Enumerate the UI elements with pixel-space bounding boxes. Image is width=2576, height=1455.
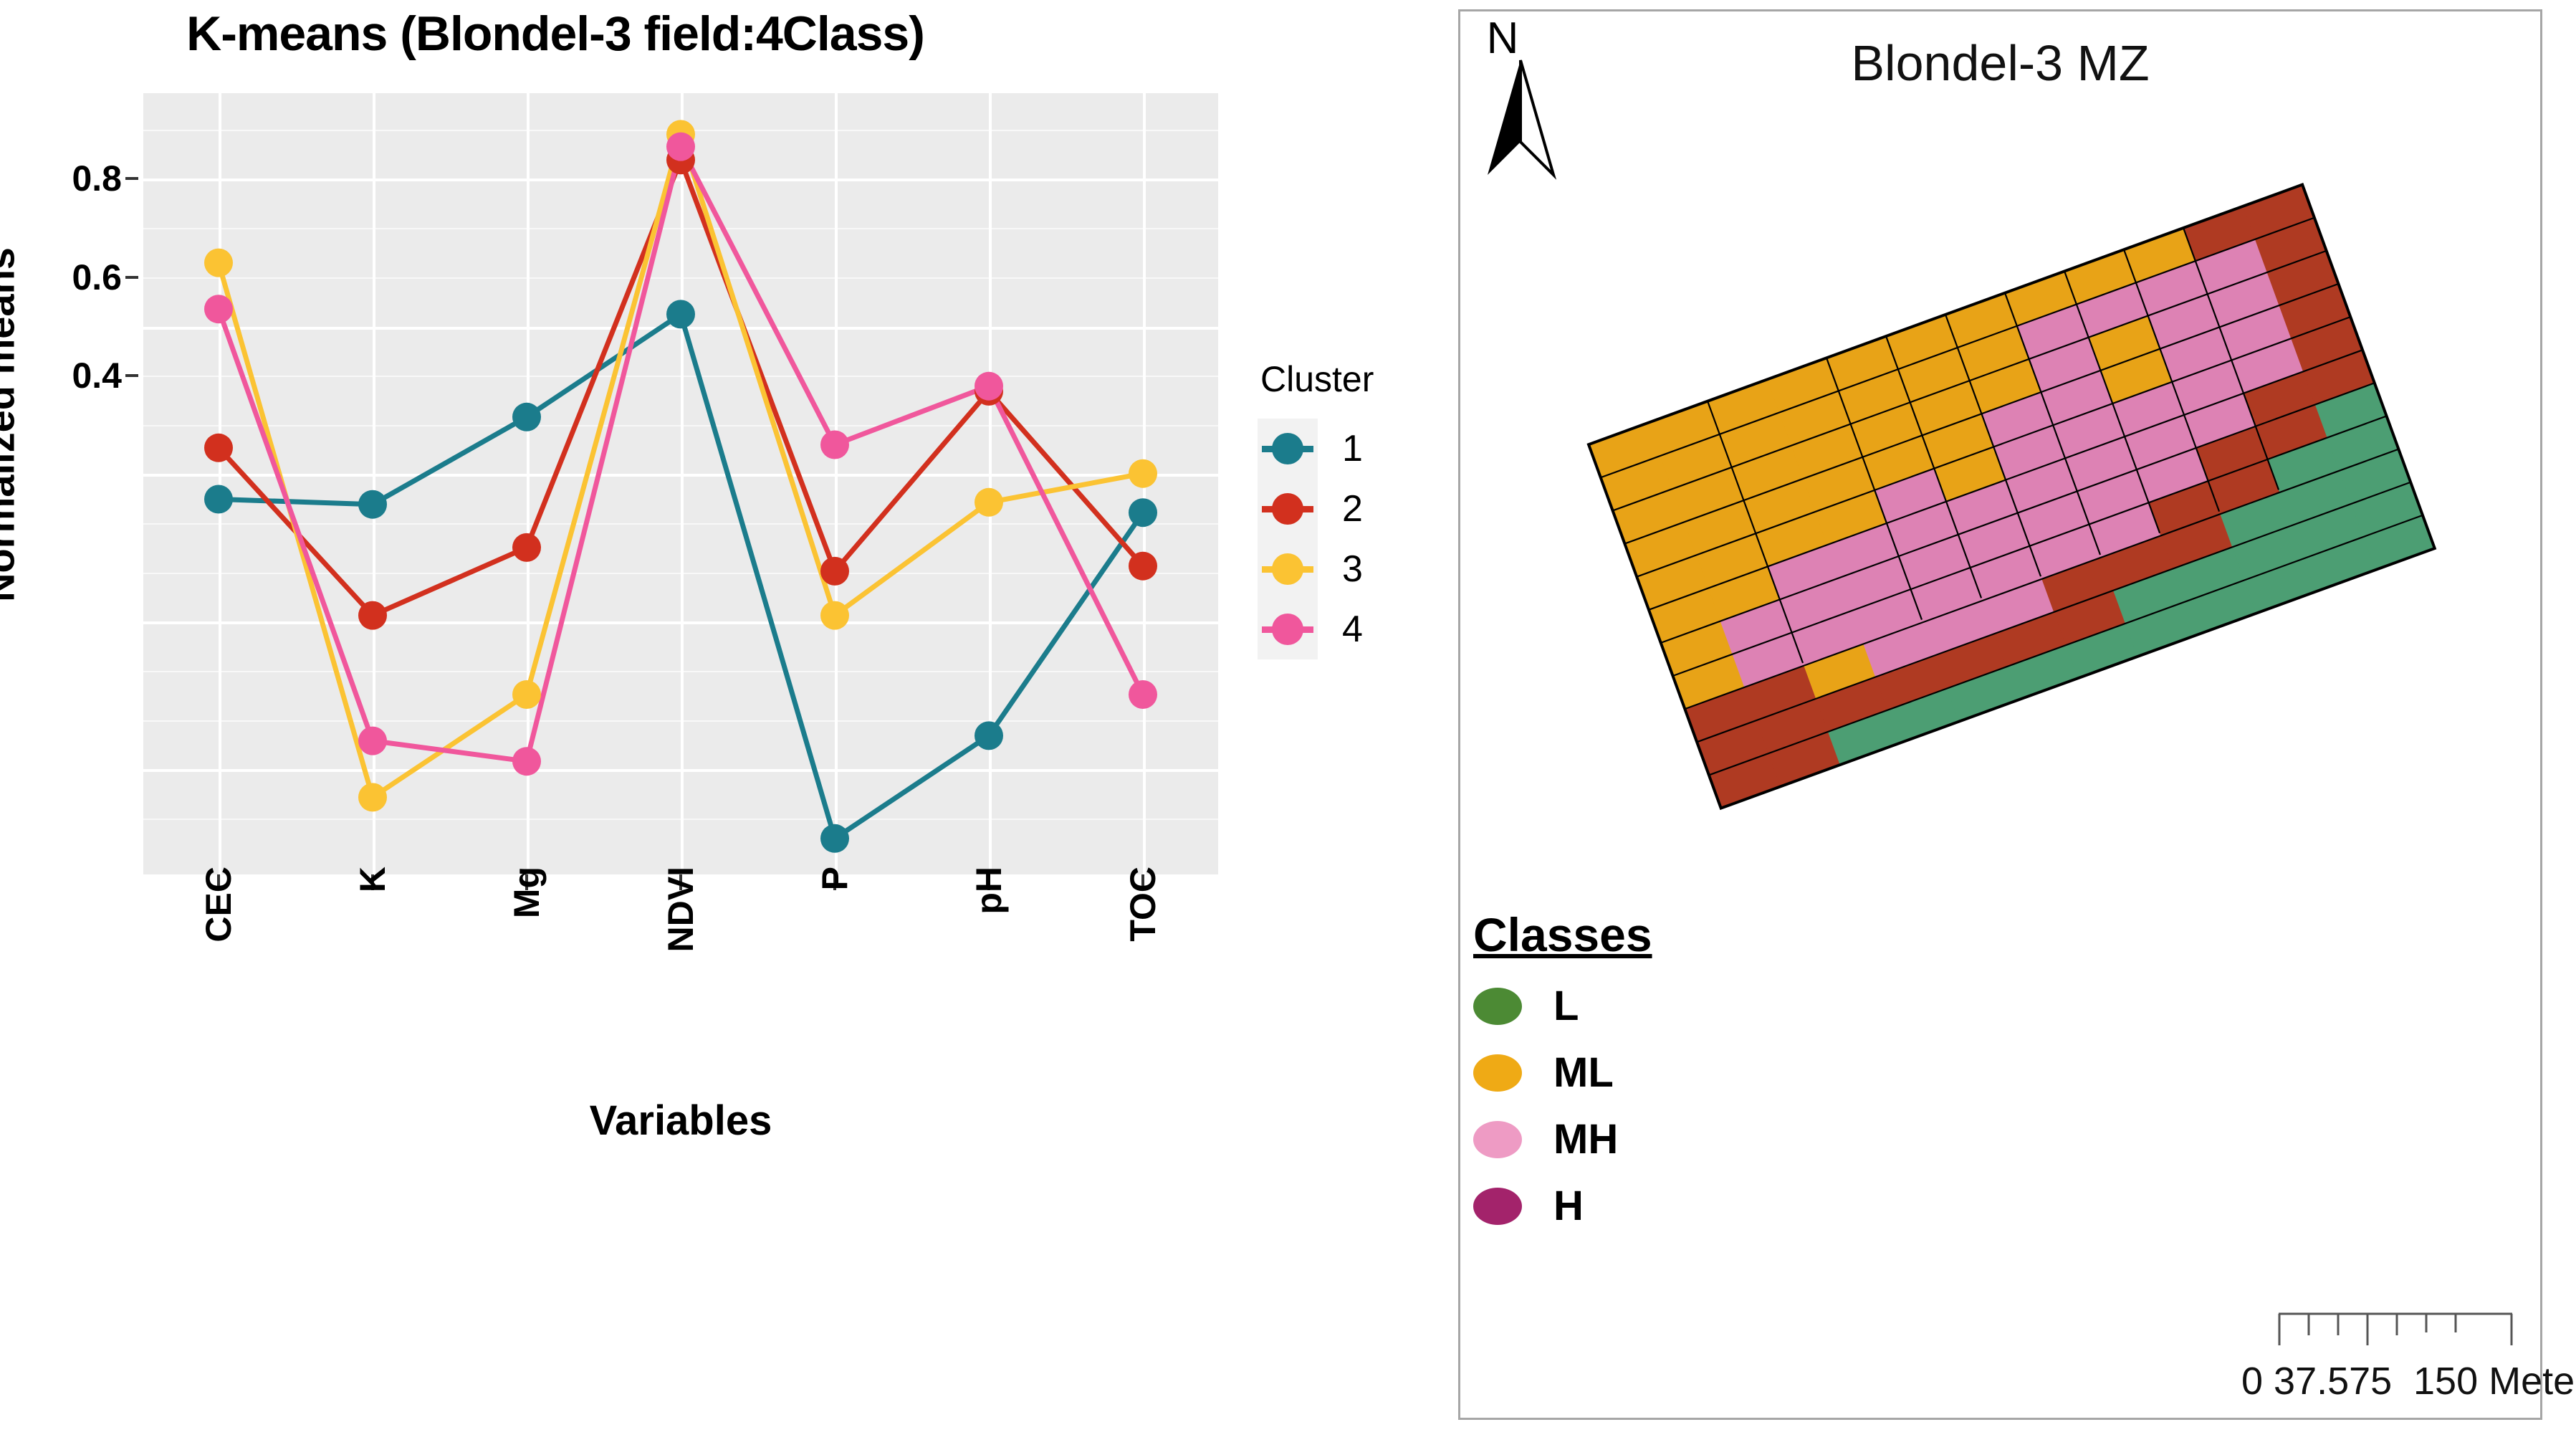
data-point-4-CEC[interactable] — [204, 295, 233, 323]
x-tick-label-NDVI: NDVI — [660, 867, 702, 1082]
y-axis-title: Normalized means — [0, 174, 24, 676]
class-swatch-MH — [1473, 1121, 1522, 1158]
legend-label-4: 4 — [1342, 608, 1363, 651]
legend-title: Cluster — [1258, 358, 1374, 400]
x-tick-label-TOC: TOC — [1122, 867, 1164, 1082]
series-line-1 — [219, 314, 1143, 838]
series-line-2 — [219, 160, 1143, 615]
data-point-4-K[interactable] — [358, 727, 387, 755]
legend-key-swatch-4 — [1258, 599, 1318, 659]
data-point-2-K[interactable] — [358, 601, 387, 630]
y-tick-label-0.8: 0.8 — [14, 158, 122, 199]
y-tick-mark-0.8 — [125, 177, 138, 180]
data-point-3-Mg[interactable] — [512, 680, 541, 709]
legend-item-4[interactable]: 4 — [1258, 599, 1374, 659]
classes-legend: Classes L ML MH H — [1473, 907, 1652, 1230]
data-point-1-TOC[interactable] — [1129, 498, 1157, 527]
classes-title: Classes — [1473, 907, 1652, 963]
class-swatch-ML — [1473, 1054, 1522, 1092]
class-label-L: L — [1553, 982, 1579, 1030]
legend-item-3[interactable]: 3 — [1258, 539, 1374, 599]
legend-dot-3 — [1272, 553, 1303, 585]
x-tick-label-Mg: Mg — [506, 867, 547, 1082]
x-tick-label-pH: pH — [968, 867, 1010, 1082]
data-point-1-pH[interactable] — [975, 721, 1003, 750]
data-point-4-NDVI[interactable] — [666, 133, 695, 161]
legend-label-1: 1 — [1342, 427, 1363, 470]
class-legend-item-H[interactable]: H — [1473, 1182, 1652, 1230]
data-point-1-NDVI[interactable] — [666, 300, 695, 328]
kmeans-chart-panel: K-means (Blondel-3 field:4Class) Normali… — [0, 0, 1455, 1455]
class-swatch-H — [1473, 1188, 1522, 1225]
class-label-MH: MH — [1553, 1115, 1618, 1163]
class-legend-item-MH[interactable]: MH — [1473, 1115, 1652, 1163]
legend-label-2: 2 — [1342, 487, 1363, 530]
data-point-2-P[interactable] — [820, 557, 849, 586]
data-point-2-TOC[interactable] — [1129, 552, 1157, 581]
data-point-1-K[interactable] — [358, 490, 387, 519]
map-title: Blondel-3 MZ — [1460, 34, 2540, 92]
series-line-4 — [219, 147, 1143, 762]
series-lines-layer — [143, 93, 1218, 874]
data-point-1-Mg[interactable] — [512, 403, 541, 431]
legend-item-2[interactable]: 2 — [1258, 479, 1374, 539]
class-legend-item-ML[interactable]: ML — [1473, 1049, 1652, 1097]
classes-title-wrap: Classes — [1473, 907, 1652, 963]
data-point-4-Mg[interactable] — [512, 747, 541, 776]
x-tick-label-P: P — [814, 867, 856, 1082]
legend-item-1[interactable]: 1 — [1258, 419, 1374, 479]
x-tick-label-K: K — [352, 867, 393, 1082]
scalebar-right-label: 150 Meters — [2413, 1359, 2576, 1403]
legend-dot-2 — [1272, 493, 1303, 525]
y-tick-mark-0.6 — [125, 276, 138, 279]
data-point-3-P[interactable] — [820, 601, 849, 630]
chart-title: K-means (Blondel-3 field:4Class) — [107, 6, 1003, 62]
data-point-4-pH[interactable] — [975, 372, 1003, 401]
data-point-3-K[interactable] — [358, 783, 387, 811]
field-polygon-group — [1589, 184, 2436, 808]
data-point-3-CEC[interactable] — [204, 249, 233, 277]
scalebar — [2277, 1312, 2514, 1347]
class-swatch-L — [1473, 988, 1522, 1025]
data-point-3-pH[interactable] — [975, 488, 1003, 517]
data-point-2-Mg[interactable] — [512, 533, 541, 562]
y-tick-label-0.4: 0.4 — [14, 355, 122, 396]
x-axis-title: Variables — [143, 1097, 1218, 1145]
legend-key-swatch-1 — [1258, 419, 1318, 479]
legend-label-3: 3 — [1342, 548, 1363, 591]
data-point-4-P[interactable] — [820, 431, 849, 459]
y-tick-mark-0.4 — [125, 374, 138, 377]
legend-dot-1 — [1272, 433, 1303, 464]
class-legend-item-L[interactable]: L — [1473, 982, 1652, 1030]
data-point-1-CEC[interactable] — [204, 485, 233, 514]
legend-key-swatch-2 — [1258, 479, 1318, 539]
management-zone-map[interactable] — [1503, 119, 2506, 879]
class-label-ML: ML — [1553, 1049, 1614, 1097]
data-point-1-P[interactable] — [820, 824, 849, 853]
scalebar-left-label: 0 37.575 — [2241, 1359, 2392, 1403]
data-point-3-TOC[interactable] — [1129, 459, 1157, 488]
legend-dot-4 — [1272, 614, 1303, 645]
scalebar-ticks-icon — [2277, 1312, 2514, 1347]
x-tick-label-CEC: CEC — [198, 867, 239, 1082]
y-tick-label-0.6: 0.6 — [14, 257, 122, 298]
data-point-4-TOC[interactable] — [1129, 680, 1157, 709]
cluster-legend: Cluster 1 2 3 — [1258, 358, 1374, 659]
data-point-2-CEC[interactable] — [204, 434, 233, 462]
map-panel: N Blondel-3 MZ Classes L ML MH H — [1458, 9, 2542, 1420]
plot-panel — [143, 93, 1218, 874]
class-label-H: H — [1553, 1182, 1584, 1230]
legend-key-swatch-3 — [1258, 539, 1318, 599]
